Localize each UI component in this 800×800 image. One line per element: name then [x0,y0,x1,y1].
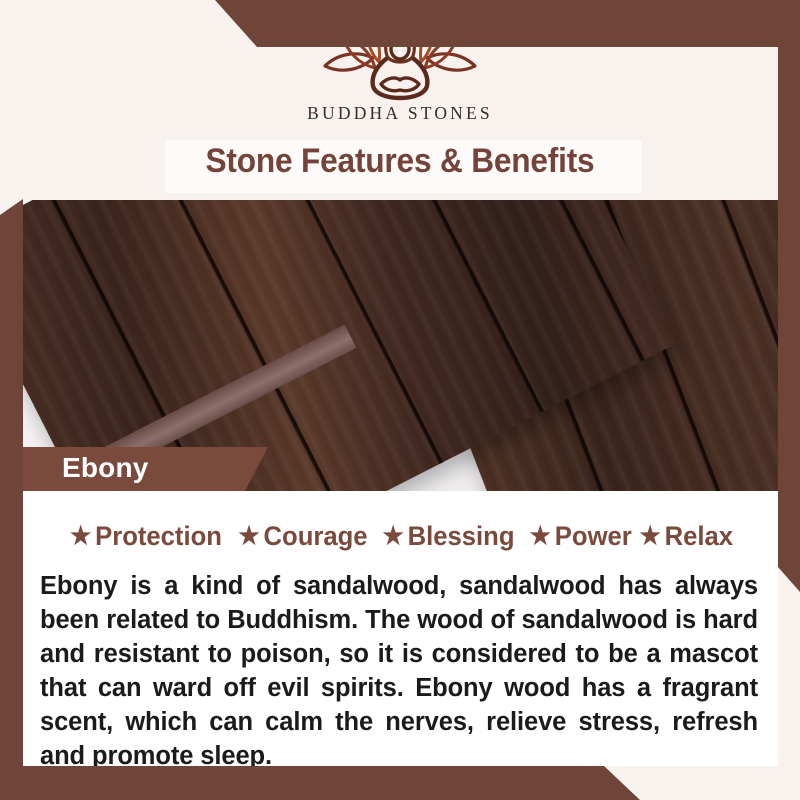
benefits-list: ★ Protection ★ Courage ★ Blessing ★ Powe… [23,521,778,552]
benefit-item-protection: ★ Protection [70,521,222,552]
infographic-poster: BUDDHA STONES Stone Features & Benefits … [0,0,800,800]
stone-name-label: Ebony [62,452,149,484]
benefit-item-blessing: ★ Blessing [383,521,515,552]
benefit-label: Power [555,521,632,552]
ebony-wood-planks-photo [23,196,778,491]
benefit-label: Courage [263,521,367,552]
benefit-item-power: ★ Power [530,521,632,552]
benefit-label: Relax [664,521,732,552]
star-icon: ★ [238,524,259,549]
star-icon: ★ [530,524,551,549]
star-icon: ★ [383,524,404,549]
page-title: Stone Features & Benefits [28,142,772,181]
stone-description: Ebony is a kind of sandalwood, sandalwoo… [40,569,758,773]
star-icon: ★ [70,524,91,549]
benefit-label: Protection [95,521,222,552]
benefit-item-courage: ★ Courage [238,521,367,552]
frame-left-bar [0,199,23,766]
star-icon: ★ [639,524,660,549]
brand-name: BUDDHA STONES [0,103,800,124]
benefit-item-relax: ★ Relax [639,521,733,552]
benefit-label: Blessing [408,521,515,552]
frame-right-bar [778,47,800,592]
